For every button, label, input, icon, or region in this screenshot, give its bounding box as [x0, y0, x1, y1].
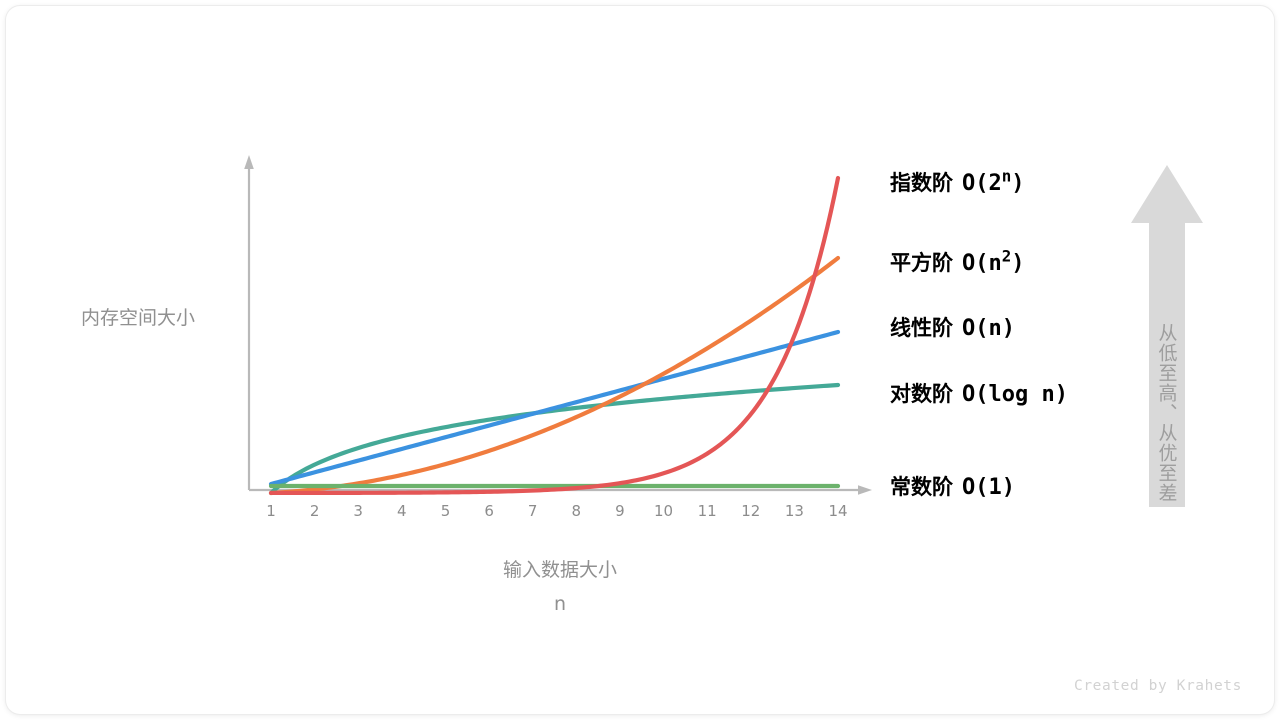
legend-label-exponential: 指数阶 [890, 171, 953, 195]
x-tick-label: 9 [615, 502, 625, 520]
legend-item-quadratic: 平方阶O(n2) [890, 247, 1025, 277]
x-tick-label: 1 [266, 502, 276, 520]
x-tick-label: 8 [572, 502, 582, 520]
curve-quadratic [271, 258, 838, 493]
legend-notation-constant: O(1) [962, 475, 1015, 500]
x-tick-label: 5 [441, 502, 451, 520]
x-tick-label: 13 [785, 502, 804, 520]
legend-item-exponential: 指数阶O(2n) [890, 167, 1025, 197]
legend-item-linear: 线性阶O(n) [890, 312, 1015, 342]
legend-label-quadratic: 平方阶 [890, 251, 953, 275]
ranking-arrow-label-wrap: 从低至高、从优至差 [1144, 161, 1190, 511]
legend-notation-quadratic: O(n2) [962, 251, 1025, 276]
curve-logarithmic [271, 385, 838, 493]
legend-notation-exponential: O(2n) [962, 171, 1025, 196]
x-axis-variable: n [255, 593, 865, 615]
x-tick-label: 4 [397, 502, 407, 520]
legend-notation-linear: O(n) [962, 316, 1015, 341]
ranking-arrow-label: 从低至高、从优至差 [1154, 323, 1181, 503]
x-tick-label: 14 [828, 502, 847, 520]
x-tick-labels: 1234567891011121314 [266, 502, 847, 520]
x-tick-label: 10 [654, 502, 673, 520]
curve-group [271, 178, 838, 493]
legend-item-logarithmic: 对数阶O(log n) [890, 378, 1068, 408]
x-tick-label: 6 [484, 502, 494, 520]
legend-item-constant: 常数阶O(1) [890, 471, 1015, 501]
x-tick-label: 11 [698, 502, 717, 520]
ranking-arrow: 从低至高、从优至差 [1144, 161, 1190, 511]
x-tick-label: 2 [310, 502, 320, 520]
curve-exponential [271, 178, 838, 493]
x-tick-label: 12 [741, 502, 760, 520]
x-axis-title: 输入数据大小 [255, 555, 865, 582]
x-tick-label: 3 [353, 502, 363, 520]
legend-label-constant: 常数阶 [890, 475, 953, 499]
y-axis-title: 内存空间大小 [81, 303, 195, 330]
x-tick-label: 7 [528, 502, 538, 520]
legend-notation-logarithmic: O(log n) [962, 382, 1068, 407]
legend-label-logarithmic: 对数阶 [890, 382, 953, 406]
legend-label-linear: 线性阶 [890, 316, 953, 340]
chart-card: 1234567891011121314 内存空间大小 输入数据大小 n 指数阶O… [6, 6, 1274, 714]
watermark: Created by Krahets [1074, 678, 1242, 694]
y-axis [244, 155, 254, 490]
